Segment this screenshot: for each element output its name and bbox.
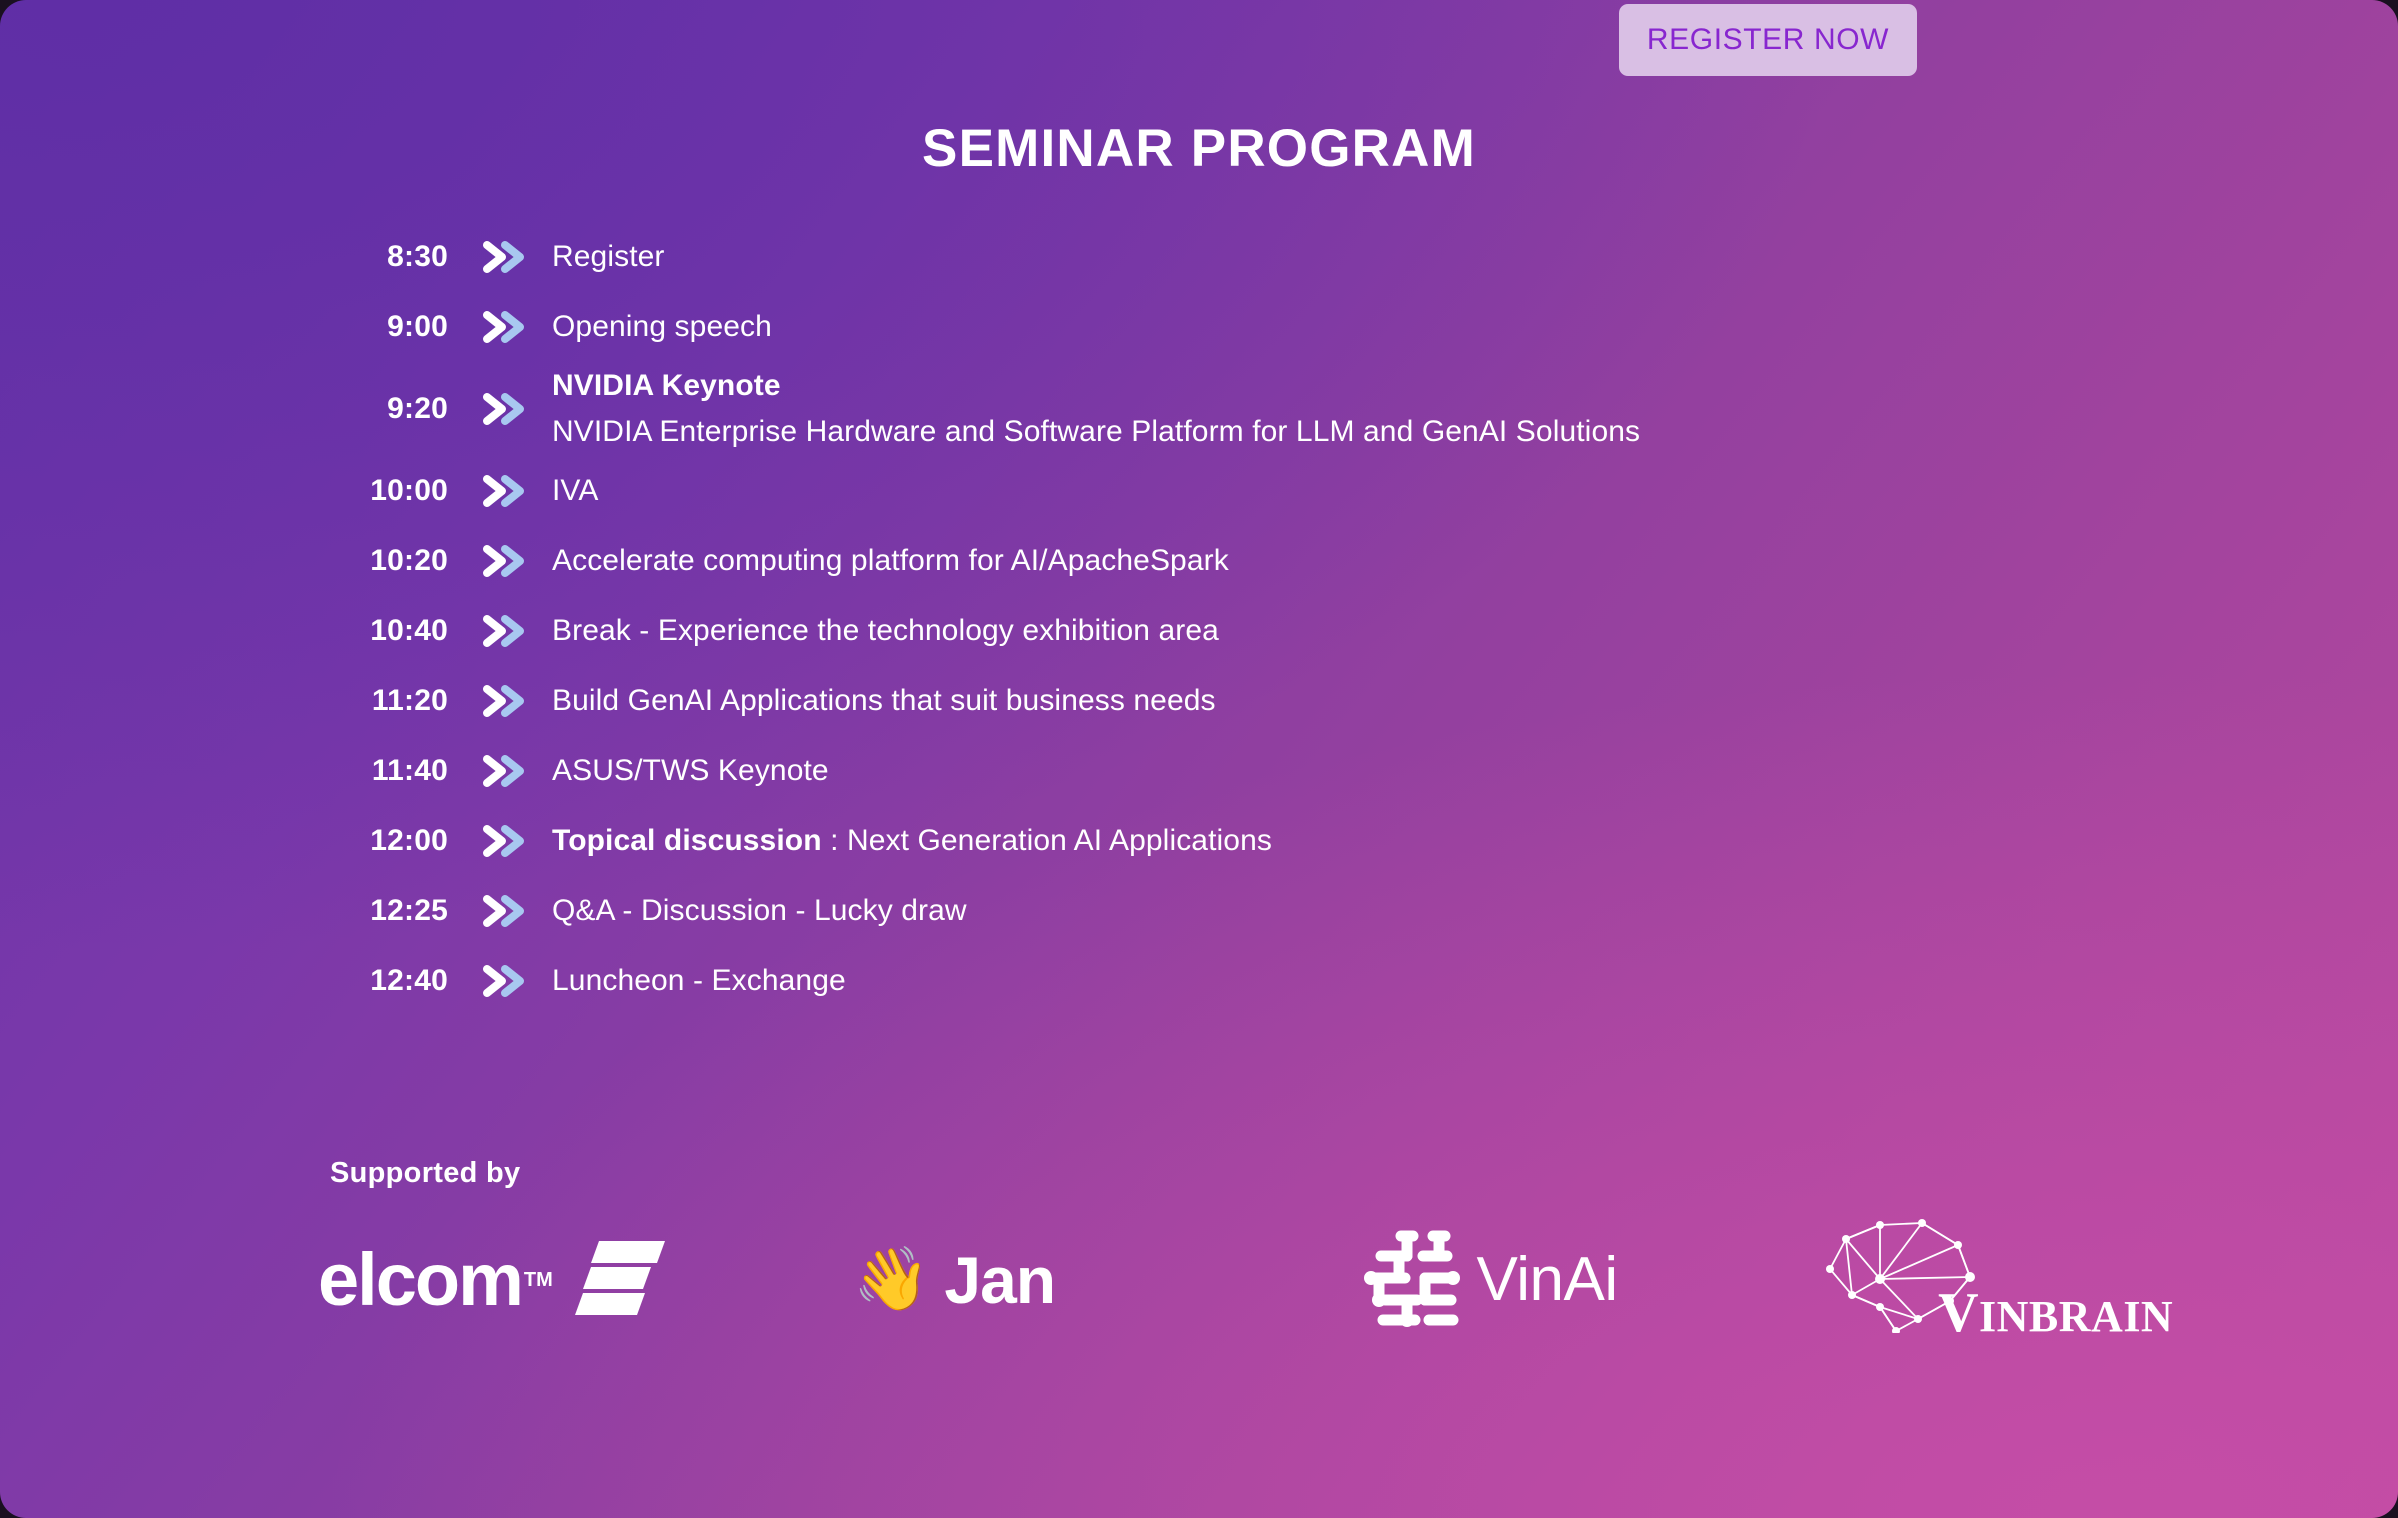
vinbrain-initial: V [1938,1282,1979,1344]
double-chevron-right-icon [470,539,540,583]
schedule-row: 11:40 ASUS/TWS Keynote [0,736,2398,806]
row-subtitle: NVIDIA Enterprise Hardware and Software … [552,412,2398,452]
schedule-row: 12:40 Luncheon - Exchange [0,946,2398,1016]
logo-vinai: VinAi [1233,1226,1719,1335]
logo-vinbrain: VINBRAIN [1718,1215,2150,1345]
row-title: NVIDIA Keynote [552,366,2398,406]
row-text: Accelerate computing platform for AI/Apa… [552,541,2398,581]
logo-elcom: elcomTM [300,1239,713,1322]
schedule-row: 10:20 Accelerate computing platform for … [0,526,2398,596]
row-text: Q&A - Discussion - Lucky draw [552,891,2398,931]
schedule-row: 11:20 Build GenAI Applications that suit… [0,666,2398,736]
schedule-row: 8:30 Register [0,222,2398,292]
row-text: Build GenAI Applications that suit busin… [552,681,2398,721]
double-chevron-right-icon [470,609,540,653]
row-text: Register [552,237,2398,277]
row-text: Luncheon - Exchange [552,961,2398,1001]
row-text: Break - Experience the technology exhibi… [552,611,2398,651]
register-now-button[interactable]: REGISTER NOW [1619,4,1917,76]
double-chevron-right-icon [470,235,540,279]
vinai-circuit-icon [1355,1226,1463,1335]
row-time: 8:30 [330,240,448,274]
row-text: NVIDIA Keynote NVIDIA Enterprise Hardwar… [552,362,2398,456]
schedule-row: 9:00 Opening speech [0,292,2398,362]
row-time: 10:40 [330,614,448,648]
row-text: IVA [552,471,2398,511]
vinai-wordmark: VinAi [1477,1249,1618,1311]
waving-hand-icon: 👋 [853,1249,930,1311]
double-chevron-right-icon [470,959,540,1003]
row-time: 10:00 [330,474,448,508]
double-chevron-right-icon [470,469,540,513]
double-chevron-right-icon [470,679,540,723]
double-chevron-right-icon [470,749,540,793]
page-title: SEMINAR PROGRAM [0,118,2398,179]
row-time: 10:20 [330,544,448,578]
trademark-symbol: TM [524,1269,553,1292]
schedule-row: 10:40 Break - Experience the technology … [0,596,2398,666]
supported-by-label: Supported by [330,1157,521,1190]
schedule-row: 10:00 IVA [0,456,2398,526]
row-text: Opening speech [552,307,2398,347]
elcom-e-bars-icon [571,1239,667,1322]
row-time: 12:00 [330,824,448,858]
row-time: 12:25 [330,894,448,928]
row-text: ASUS/TWS Keynote [552,751,2398,791]
row-text-rest: : Next Generation AI Applications [822,824,1272,857]
supporter-logo-strip: elcomTM 👋 Jan [300,1210,2150,1350]
row-time: 11:40 [330,754,448,788]
schedule-list: 8:30 Register 9:00 [0,222,2398,1016]
double-chevron-right-icon [470,819,540,863]
double-chevron-right-icon [470,305,540,349]
row-text: Topical discussion : Next Generation AI … [552,821,2398,861]
logo-jan: 👋 Jan [713,1247,1232,1313]
vinbrain-word-rest: INBRAIN [1979,1292,2173,1341]
row-time: 12:40 [330,964,448,998]
double-chevron-right-icon [470,387,540,431]
elcom-wordmark: elcom [318,1243,522,1317]
seminar-program-page: REGISTER NOW SEMINAR PROGRAM 8:30 Regist… [0,0,2398,1518]
row-time: 11:20 [330,684,448,718]
row-text-bold-prefix: Topical discussion [552,824,822,857]
row-time: 9:00 [330,310,448,344]
row-time: 9:20 [330,392,448,426]
schedule-row: 12:25 Q&A - Discussion - Lucky draw [0,876,2398,946]
vinbrain-wordmark: VINBRAIN [1938,1285,2173,1341]
double-chevron-right-icon [470,889,540,933]
jan-wordmark: Jan [944,1247,1055,1313]
schedule-row: 9:20 NVIDIA Keynote NVIDIA Enterprise Ha… [0,362,2398,456]
schedule-row: 12:00 Topical discussion : Next Generati… [0,806,2398,876]
